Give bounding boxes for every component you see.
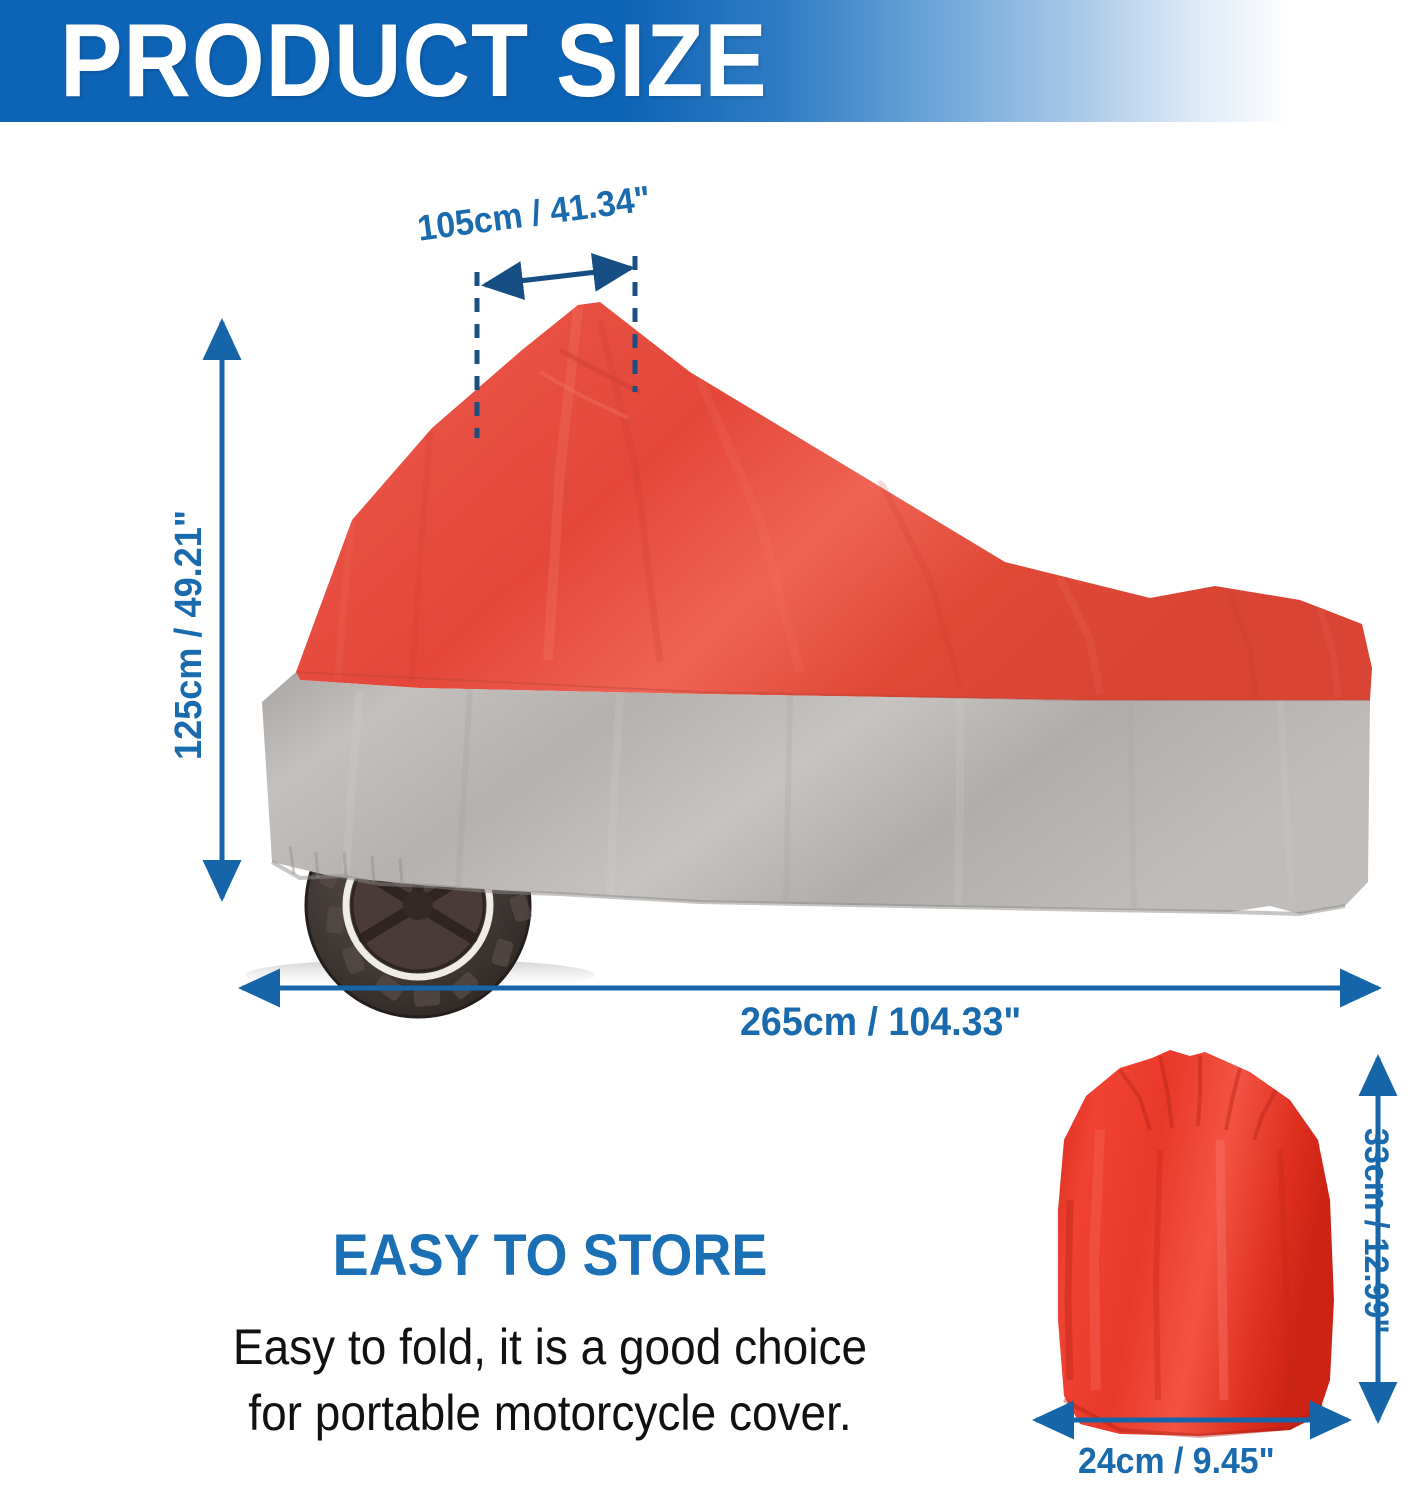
dimension-label-bag-height: 33cm / 12.99" — [1356, 1128, 1395, 1334]
dimension-label-cover-height: 125cm / 49.21" — [168, 510, 211, 760]
top-width-arrow — [485, 268, 631, 285]
dimension-label-bag-width: 24cm / 9.45" — [1078, 1440, 1275, 1482]
easy-to-store-line-1: Easy to fold, it is a good choice — [136, 1318, 964, 1376]
top-width-leader-lines — [477, 256, 635, 438]
cover-grey-panel — [262, 672, 1370, 914]
easy-to-store-line-2: for portable motorcycle cover. — [136, 1384, 964, 1442]
cover-red-panel — [296, 302, 1372, 700]
page-title: PRODUCT SIZE — [60, 2, 768, 120]
storage-bag — [1058, 1050, 1334, 1436]
wheel-shadow — [245, 959, 595, 991]
easy-to-store-heading: EASY TO STORE — [252, 1222, 847, 1289]
dimension-label-top-width: 105cm / 41.34" — [415, 177, 653, 249]
header-banner: PRODUCT SIZE — [0, 0, 1420, 122]
product-size-infographic: PRODUCT SIZE — [0, 0, 1420, 1500]
motorcycle-cover — [262, 302, 1372, 914]
dimension-label-cover-length: 265cm / 104.33" — [740, 1000, 1021, 1045]
motorcycle-wheel — [306, 790, 533, 1017]
